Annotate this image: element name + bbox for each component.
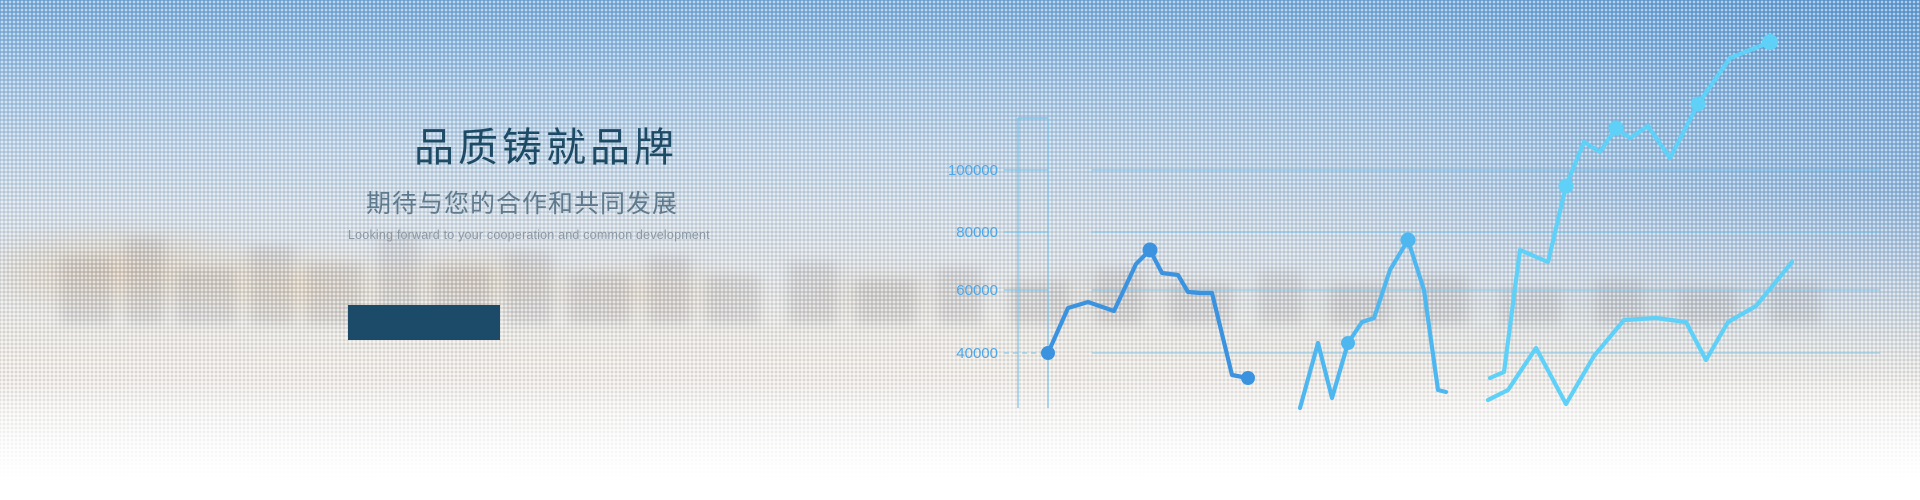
chart-series-2: [1300, 233, 1446, 409]
hero-banner: 100000 80000 60000 40000: [0, 0, 1920, 500]
data-point-marker: [1691, 97, 1706, 112]
data-point-marker: [1241, 371, 1255, 385]
chart-y-axis-labels: 100000 80000 60000 40000: [948, 162, 998, 362]
cta-button[interactable]: [348, 305, 500, 340]
y-tick-label: 80000: [956, 224, 998, 241]
y-tick-label: 40000: [956, 345, 998, 362]
data-point-marker: [1609, 121, 1624, 136]
y-tick-label: 100000: [948, 162, 998, 179]
chart-series-3: [1490, 34, 1778, 378]
hero-subtitle-cn: 期待与您的合作和共同发展: [348, 189, 678, 219]
data-point-marker: [1041, 346, 1055, 360]
hero-subtitle-en: Looking forward to your cooperation and …: [348, 228, 678, 242]
chart-gridlines: [1004, 170, 1880, 353]
hero-copy: 品质铸就品牌 期待与您的合作和共同发展 Looking forward to y…: [348, 126, 678, 242]
data-point-marker: [1143, 243, 1158, 258]
data-point-marker: [1341, 336, 1355, 350]
chart-series-1: [1041, 243, 1255, 386]
data-point-marker: [1401, 233, 1416, 248]
page-title: 品质铸就品牌: [348, 126, 678, 171]
y-tick-label: 60000: [956, 282, 998, 299]
line-chart: 100000 80000 60000 40000: [900, 0, 1920, 440]
chart-axis-frame: [1018, 118, 1048, 408]
chart-series-4: [1488, 262, 1792, 404]
data-point-marker: [1559, 179, 1574, 194]
data-point-marker: [1762, 34, 1778, 50]
